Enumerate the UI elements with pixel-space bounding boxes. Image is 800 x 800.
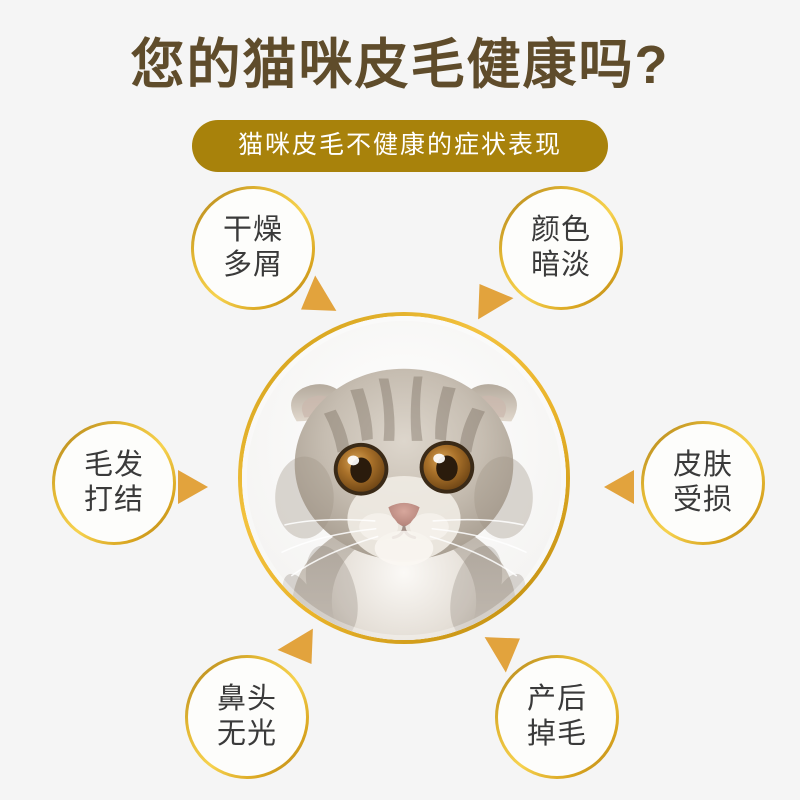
symptom-bubble-damaged-skin[interactable]: 皮肤 受损 [641, 421, 765, 545]
gray-tabby-kitten-photo [242, 316, 566, 640]
bubble-line-2: 多屑 [223, 248, 283, 283]
page-title: 您的猫咪皮毛健康吗? [0, 34, 800, 96]
bubble-line-1: 皮肤 [673, 448, 733, 483]
bubble-line-1: 鼻头 [217, 682, 277, 717]
symptom-bubble-tangled-hair[interactable]: 毛发 打结 [52, 421, 176, 545]
symptom-bubble-postpartum-shed[interactable]: 产后 掉毛 [495, 655, 619, 779]
bubble-line-2: 无光 [217, 717, 277, 752]
bubble-line-1: 颜色 [531, 213, 591, 248]
cat-photo-clip [242, 316, 566, 640]
symptom-bubble-dull-color[interactable]: 颜色 暗淡 [499, 186, 623, 310]
bubble-line-2: 掉毛 [527, 717, 587, 752]
bubble-line-2: 暗淡 [531, 248, 591, 283]
arrow-right-icon [178, 470, 208, 504]
poster-root: 您的猫咪皮毛健康吗? 猫咪皮毛不健康的症状表现 [0, 0, 800, 800]
subtitle-banner: 猫咪皮毛不健康的症状表现 [192, 120, 608, 172]
cat-photo-circle [238, 312, 570, 644]
bubble-line-2: 打结 [84, 483, 144, 518]
bubble-line-1: 毛发 [84, 448, 144, 483]
bubble-line-2: 受损 [673, 483, 733, 518]
bubble-line-1: 产后 [527, 682, 587, 717]
symptom-bubble-dull-nose[interactable]: 鼻头 无光 [185, 655, 309, 779]
bubble-line-1: 干燥 [223, 213, 283, 248]
arrow-left-icon [604, 470, 634, 504]
